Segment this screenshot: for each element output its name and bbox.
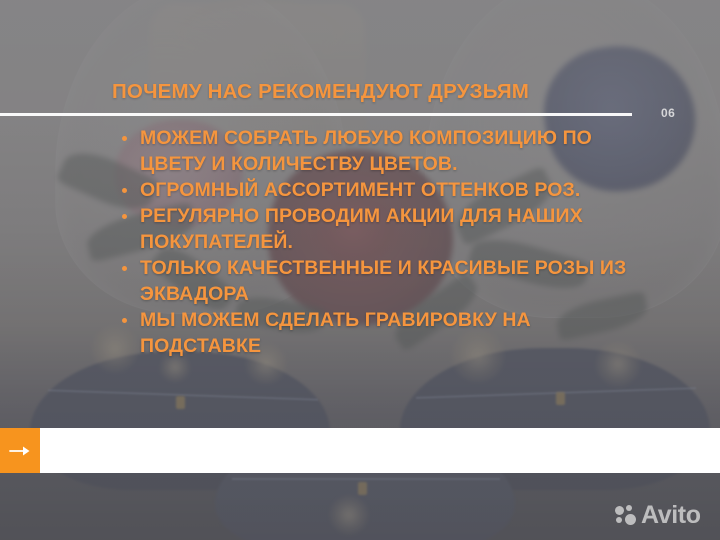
bottom-bar	[0, 428, 720, 473]
benefit-item: ТОЛЬКО КАЧЕСТВЕННЫЕ И КРАСИВЫЕ РОЗЫ ИЗ Э…	[118, 255, 648, 307]
benefit-item: МЫ МОЖЕМ СДЕЛАТЬ ГРАВИРОВКУ НА ПОДСТАВКЕ	[118, 307, 648, 359]
benefit-item: РЕГУЛЯРНО ПРОВОДИМ АКЦИИ ДЛЯ НАШИХ ПОКУП…	[118, 203, 648, 255]
avito-wordmark: Avito	[641, 503, 701, 528]
benefit-item: ОГРОМНЫЙ АССОРТИМЕНТ ОТТЕНКОВ РОЗ.	[118, 177, 648, 203]
benefits-list: МОЖЕМ СОБРАТЬ ЛЮБУЮ КОМПОЗИЦИЮ ПО ЦВЕТУ …	[118, 125, 648, 359]
slide: ПОЧЕМУ НАС РЕКОМЕНДУЮТ ДРУЗЬЯМ 06 МОЖЕМ …	[0, 0, 720, 540]
slide-title: ПОЧЕМУ НАС РЕКОМЕНДУЮТ ДРУЗЬЯМ	[112, 80, 529, 104]
avito-watermark: Avito	[615, 503, 701, 528]
page-number: 06	[661, 106, 675, 120]
title-divider	[0, 113, 632, 116]
arrow-right-icon	[9, 445, 31, 457]
avito-dots-logo-icon	[615, 505, 636, 526]
benefit-item: МОЖЕМ СОБРАТЬ ЛЮБУЮ КОМПОЗИЦИЮ ПО ЦВЕТУ …	[118, 125, 648, 177]
slide-content: ПОЧЕМУ НАС РЕКОМЕНДУЮТ ДРУЗЬЯМ 06 МОЖЕМ …	[0, 0, 720, 540]
next-button[interactable]	[0, 428, 40, 473]
